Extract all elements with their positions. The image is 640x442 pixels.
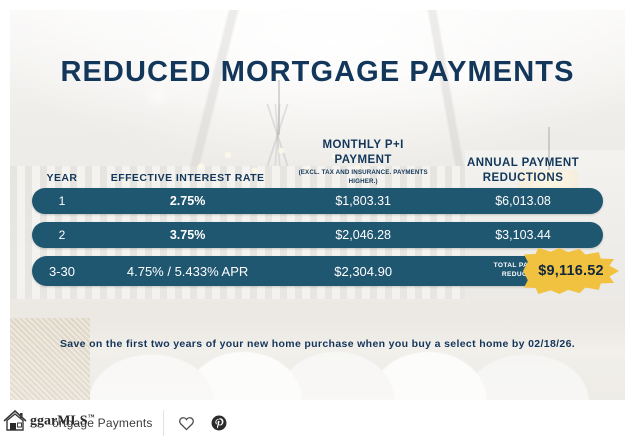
trademark-symbol: ™	[88, 413, 95, 421]
total-reduction-starburst-badge: $9,116.52	[523, 248, 619, 294]
column-header-annual-reductions-line2: REDUCTIONS	[483, 172, 564, 184]
mls-watermark-name: ggarMLS	[30, 413, 88, 428]
table-row: 1 2.75% $1,803.31 $6,013.08	[32, 188, 603, 214]
cell-rate: 2.75%	[92, 194, 283, 208]
cell-annual: $3,103.44	[443, 228, 603, 242]
cell-rate: 4.75% / 5.433% APR	[92, 264, 283, 279]
cell-year: 1	[32, 194, 92, 208]
table-row: 2 3.75% $2,046.28 $3,103.44	[32, 222, 603, 248]
column-header-effective-interest-rate: EFFECTIVE INTEREST RATE	[92, 172, 283, 188]
cell-year: 3-30	[32, 264, 92, 279]
flyer-image: REDUCED MORTGAGE PAYMENTS YEAR EFFECTIVE…	[10, 10, 625, 400]
cell-annual: $6,013.08	[443, 194, 603, 208]
cell-payment: $2,046.28	[283, 228, 443, 242]
flyer-content: REDUCED MORTGAGE PAYMENTS YEAR EFFECTIVE…	[10, 10, 625, 400]
cell-year: 2	[32, 228, 92, 242]
column-header-annual-reductions: ANNUAL PAYMENT REDUCTIONS	[443, 156, 603, 188]
column-header-monthly-payment: MONTHLY P+I PAYMENT (EXCL. TAX AND INSUR…	[283, 138, 443, 188]
column-header-year: YEAR	[32, 172, 92, 188]
mls-watermark-logo: ggarMLS™	[2, 408, 95, 434]
house-icon	[2, 408, 32, 434]
pinterest-icon	[211, 415, 227, 431]
column-header-monthly-payment-fineprint: (EXCL. TAX AND INSURANCE. PAYMENTS HIGHE…	[283, 169, 443, 186]
heart-icon	[178, 415, 195, 431]
column-header-monthly-payment-line2: PAYMENT	[334, 154, 391, 166]
bottom-action-bar: ortgage Payments	[0, 403, 640, 442]
cell-payment: $2,304.90	[283, 264, 443, 279]
cell-payment: $1,803.31	[283, 194, 443, 208]
page-title: REDUCED MORTGAGE PAYMENTS	[10, 56, 625, 89]
pinterest-save-button[interactable]	[208, 412, 230, 434]
payments-table: YEAR EFFECTIVE INTEREST RATE MONTHLY P+I…	[32, 128, 603, 286]
column-header-monthly-payment-line1: MONTHLY P+I	[323, 139, 404, 151]
promo-disclaimer: Save on the first two years of your new …	[10, 338, 625, 350]
table-header-row: YEAR EFFECTIVE INTEREST RATE MONTHLY P+I…	[32, 128, 603, 188]
action-divider	[163, 410, 164, 436]
table-row: 3-30 4.75% / 5.433% APR $2,304.90 TOTAL …	[32, 256, 603, 286]
like-button[interactable]	[176, 412, 198, 434]
cell-rate: 3.75%	[92, 228, 283, 242]
screenshot-root: REDUCED MORTGAGE PAYMENTS YEAR EFFECTIVE…	[0, 0, 640, 442]
column-header-annual-reductions-line1: ANNUAL PAYMENT	[467, 157, 579, 169]
mls-watermark-text: ggarMLS™	[30, 413, 95, 430]
total-reduction-amount: $9,116.52	[538, 263, 604, 279]
